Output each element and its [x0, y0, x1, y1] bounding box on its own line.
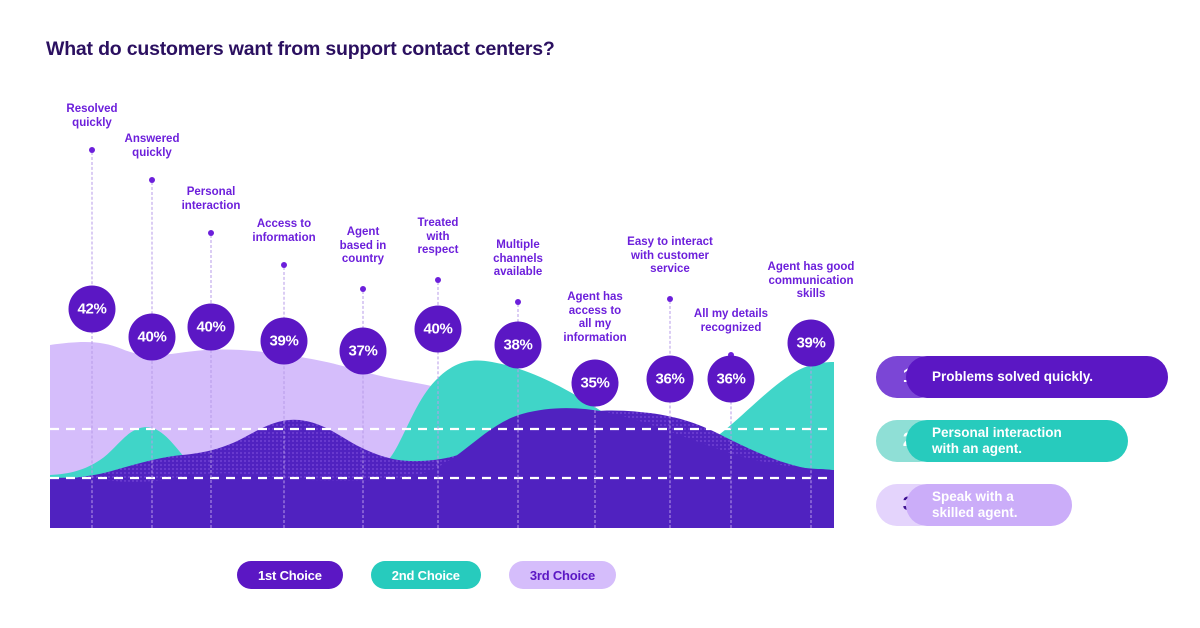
rank-text-2: Personal interaction with an agent. — [906, 420, 1128, 462]
value-bubble-9[interactable]: 36% — [708, 356, 755, 403]
callout-label-0: Resolved quickly — [66, 103, 117, 130]
callout-dot-2 — [208, 230, 214, 236]
callout-dot-5 — [435, 277, 441, 283]
legend-pill-1[interactable]: 1st Choice — [237, 561, 343, 589]
callout-stem-0 — [92, 152, 93, 528]
callout-label-10: Agent has good communication skills — [768, 261, 855, 302]
callout-label-9: All my details recognized — [694, 308, 768, 335]
callout-label-4: Agent based in country — [340, 226, 387, 267]
callout-label-3: Access to information — [252, 218, 315, 245]
callout-stem-3 — [284, 267, 285, 528]
choice-legend: 1st Choice2nd Choice3rd Choice — [237, 561, 616, 589]
callout-dot-1 — [149, 177, 155, 183]
callout-label-1: Answered quickly — [125, 133, 180, 160]
top-reasons-legend: 1Problems solved quickly.2Personal inter… — [876, 356, 1168, 526]
rank-text-1: Problems solved quickly. — [906, 356, 1168, 398]
rank-text-3: Speak with a skilled agent. — [906, 484, 1072, 526]
callout-label-7: Agent has access to all my information — [563, 291, 626, 345]
callout-dot-6 — [515, 299, 521, 305]
value-bubble-6[interactable]: 38% — [495, 322, 542, 369]
callout-label-2: Personal interaction — [182, 186, 241, 213]
rank-card-1[interactable]: 1Problems solved quickly. — [876, 356, 1168, 398]
callout-label-5: Treated with respect — [418, 217, 459, 258]
value-bubble-5[interactable]: 40% — [415, 306, 462, 353]
rank-card-3[interactable]: 3Speak with a skilled agent. — [876, 484, 1072, 526]
value-bubble-7[interactable]: 35% — [572, 360, 619, 407]
callout-stem-2 — [211, 235, 212, 528]
value-bubble-0[interactable]: 42% — [69, 286, 116, 333]
value-bubble-8[interactable]: 36% — [647, 356, 694, 403]
value-bubble-4[interactable]: 37% — [340, 328, 387, 375]
legend-pill-2[interactable]: 2nd Choice — [371, 561, 481, 589]
callout-dot-8 — [667, 296, 673, 302]
callout-label-6: Multiple channels available — [493, 239, 543, 280]
callout-dot-4 — [360, 286, 366, 292]
value-bubble-2[interactable]: 40% — [188, 304, 235, 351]
callout-dot-0 — [89, 147, 95, 153]
callout-dot-3 — [281, 262, 287, 268]
legend-pill-3[interactable]: 3rd Choice — [509, 561, 616, 589]
value-bubble-10[interactable]: 39% — [788, 320, 835, 367]
callout-label-8: Easy to interact with customer service — [627, 236, 713, 277]
value-bubble-1[interactable]: 40% — [129, 314, 176, 361]
callout-stem-8 — [670, 301, 671, 528]
value-bubble-3[interactable]: 39% — [261, 318, 308, 365]
rank-card-2[interactable]: 2Personal interaction with an agent. — [876, 420, 1128, 462]
